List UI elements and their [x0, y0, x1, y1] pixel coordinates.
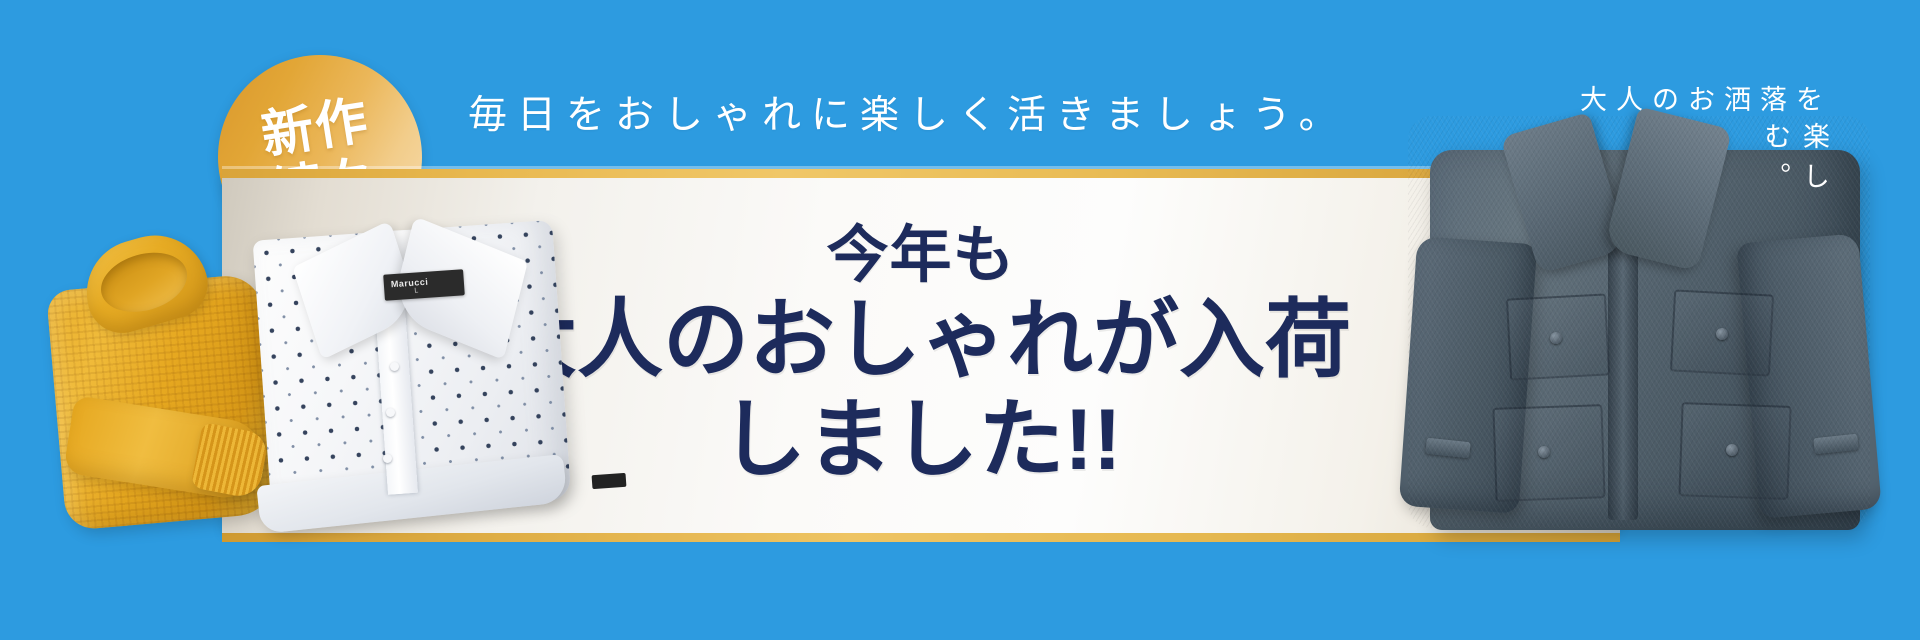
shirt-brand-label: Marucci L	[383, 269, 465, 301]
shirt-button	[386, 408, 395, 417]
jacket-front-opening	[1608, 220, 1638, 520]
shirt-hem-tag	[592, 473, 627, 489]
vertical-tagline-column: 楽しむ。	[1756, 122, 1834, 202]
jacket-button	[1716, 328, 1728, 340]
product-image-shirt[interactable]: Marucci L	[262, 212, 592, 542]
shirt-size: L	[414, 287, 418, 294]
shirt-brand-name: Marucci	[391, 277, 429, 290]
jacket-button	[1538, 446, 1550, 458]
shirt-button	[383, 454, 392, 463]
promo-banner: 新作 続々 毎日をおしゃれに楽しく活きましょう。 今年も 大人のおしゃれが入荷 …	[0, 0, 1920, 640]
jacket-button	[1726, 444, 1738, 456]
vertical-tagline-row: 大人のお洒落を	[1580, 78, 1832, 117]
jacket-button	[1550, 332, 1562, 344]
shirt-button	[390, 362, 399, 371]
tagline: 毎日をおしゃれに楽しく活きましょう。	[468, 84, 1348, 140]
